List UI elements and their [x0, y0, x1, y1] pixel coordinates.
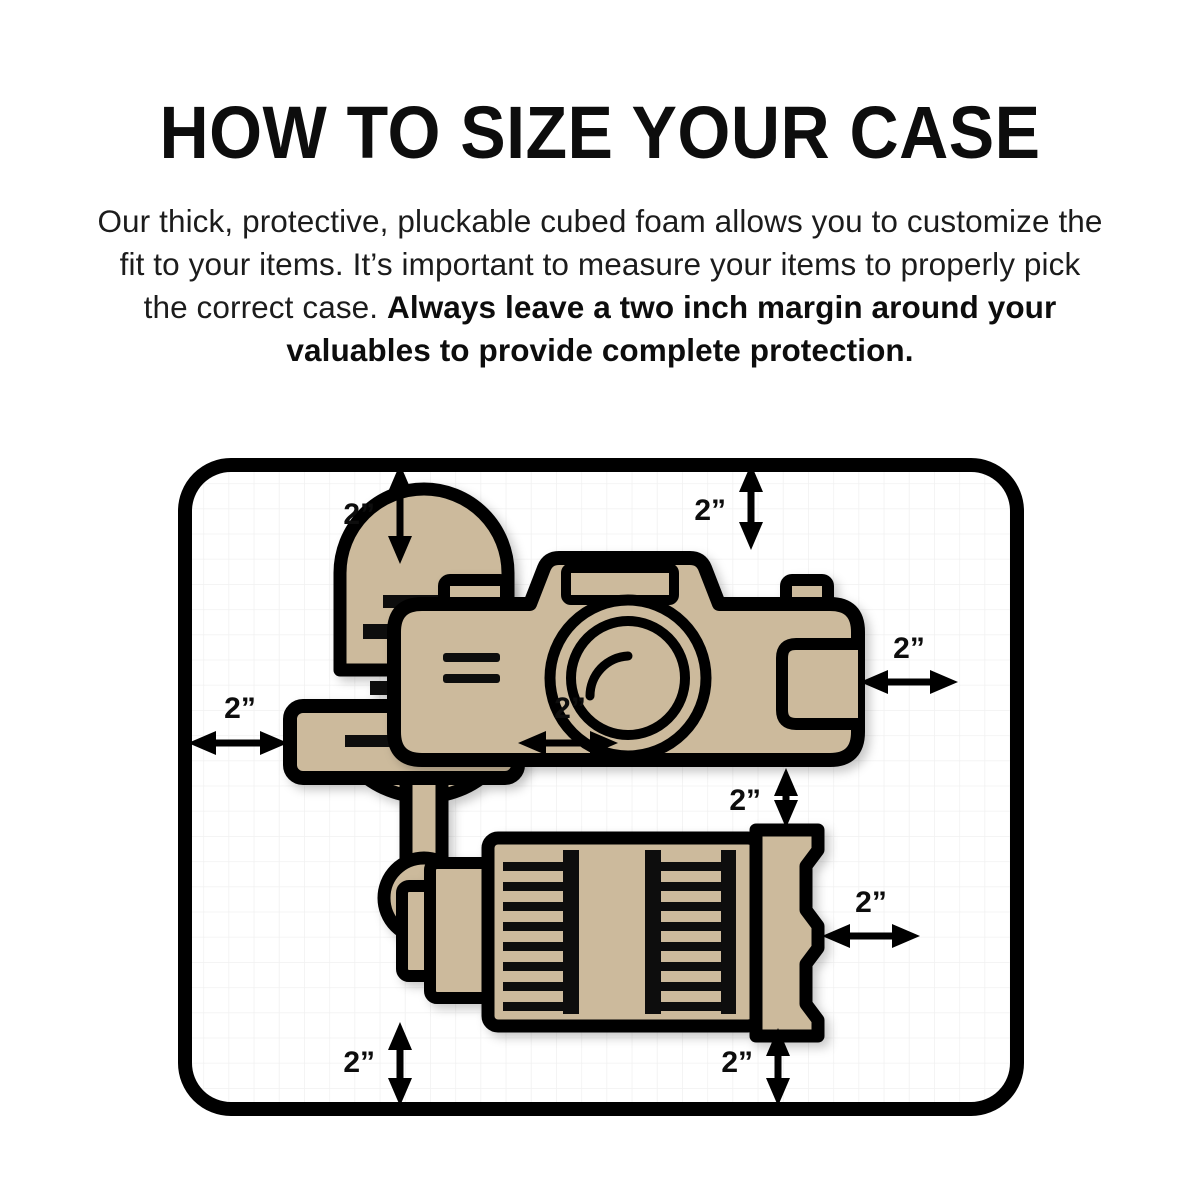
label-mic-top: 2” [343, 498, 375, 531]
label-camera-right: 2” [893, 632, 925, 665]
lens-ribs-2 [661, 850, 721, 1014]
label-lens-right: 2” [855, 886, 887, 919]
label-camera-top: 2” [694, 494, 726, 527]
foam-case-diagram: 2” 2” 2” 2” 2” 2” 2” 2” 2” [178, 458, 1024, 1116]
lens-ribs-1 [503, 850, 563, 1014]
camera-line-1 [443, 653, 500, 662]
lens-mid-band [579, 850, 645, 1014]
description-bold-text: Always leave a two inch margin around yo… [286, 289, 1056, 368]
camera-line-2 [443, 674, 500, 683]
header: HOW TO SIZE YOUR CASE Our thick, protect… [0, 0, 1200, 372]
lens-hood [756, 830, 818, 1036]
label-mic-left: 2” [224, 692, 256, 725]
label-mic-bottom: 2” [343, 1046, 375, 1079]
page-title: HOW TO SIZE YOUR CASE [48, 0, 1152, 170]
label-mic-right: 2” [554, 692, 586, 725]
camera-grip [782, 644, 858, 724]
label-lens-bottom: 2” [721, 1046, 753, 1079]
page-description: Our thick, protective, pluckable cubed f… [95, 170, 1105, 372]
camera-icon [394, 558, 858, 760]
infographic-page: HOW TO SIZE YOUR CASE Our thick, protect… [0, 0, 1200, 1200]
case-illustration: 2” 2” 2” 2” 2” 2” 2” 2” 2” [178, 458, 1024, 1116]
label-camera-lens-gap: 2” [729, 784, 761, 817]
